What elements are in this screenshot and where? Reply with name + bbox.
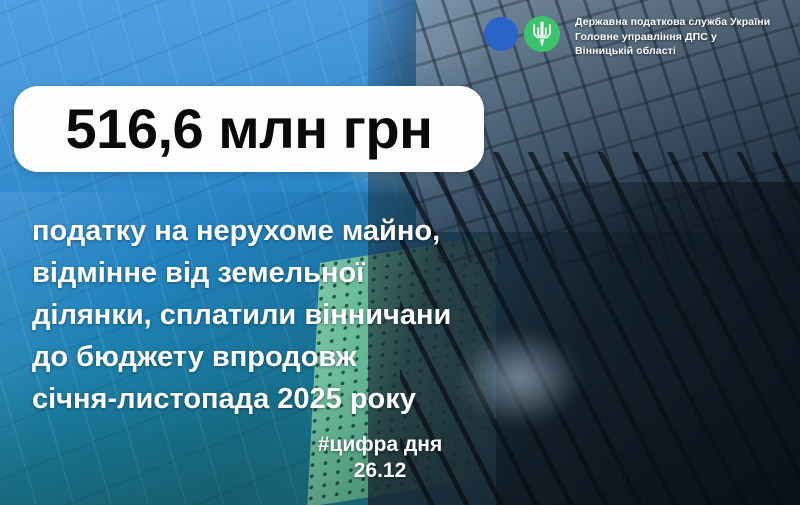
organisation-name: Державна податкова служба України Головн… bbox=[575, 12, 770, 59]
body-line-5: січня-листопада 2025 року bbox=[32, 378, 451, 420]
body-line-4: до бюджету впродовж bbox=[32, 336, 451, 378]
org-line-2: Головне управління ДПС у bbox=[575, 30, 770, 45]
headline-amount: 516,6 млн грн bbox=[66, 101, 433, 157]
green-circle-badge bbox=[524, 16, 560, 52]
infographic-canvas: Державна податкова служба України Головн… bbox=[0, 0, 800, 505]
ukraine-trident-icon bbox=[531, 21, 553, 47]
date-label: 26.12 bbox=[285, 458, 475, 484]
footer-hashtag-block: #цифра дня 26.12 bbox=[285, 432, 475, 484]
blue-circle-icon bbox=[484, 17, 518, 51]
logo-mark-group bbox=[484, 12, 566, 56]
body-line-3: ділянки, сплатили вінничани bbox=[32, 294, 451, 336]
org-line-1: Державна податкова служба України bbox=[575, 15, 770, 30]
body-line-1: податку на нерухоме майно, bbox=[32, 210, 451, 252]
body-copy: податку на нерухоме майно, відмінне від … bbox=[32, 210, 451, 420]
body-line-2: відмінне від земельної bbox=[32, 252, 451, 294]
headline-pill: 516,6 млн грн bbox=[14, 86, 484, 172]
org-line-3: Вінницькій області bbox=[575, 44, 770, 59]
header-branding: Державна податкова служба України Головн… bbox=[484, 12, 770, 59]
hashtag-label: #цифра дня bbox=[285, 432, 475, 458]
